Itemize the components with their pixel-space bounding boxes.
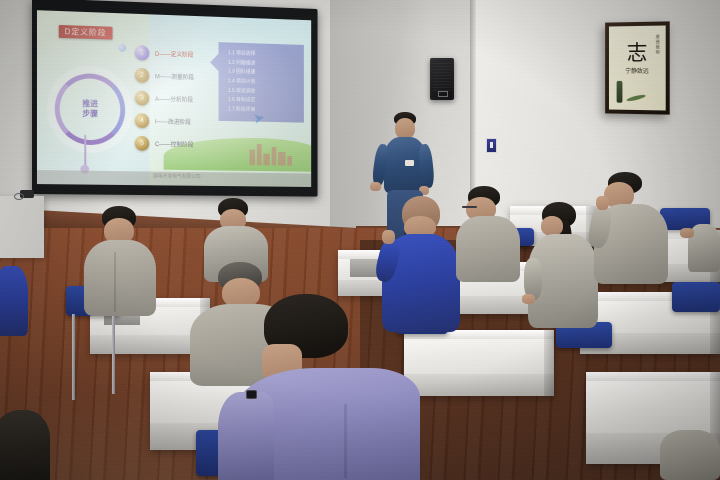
projection-screen: ➤ D定义阶段 推进 步骤 1 D——定义阶段 2 M——测量阶段 bbox=[32, 0, 318, 200]
attendee-back-left bbox=[84, 206, 160, 316]
screen-surface: ➤ D定义阶段 推进 步骤 1 D——定义阶段 2 M——测量阶段 bbox=[37, 10, 311, 187]
classroom-scene: ➤ D定义阶段 推进 步骤 1 D——定义阶段 2 M——测量阶段 bbox=[0, 0, 720, 480]
chair-leg bbox=[72, 314, 75, 400]
attendee-hand bbox=[382, 230, 395, 244]
chair-right-c bbox=[672, 282, 720, 312]
wall-speaker-icon bbox=[430, 58, 454, 100]
glasses-icon bbox=[462, 206, 477, 208]
attendee-hand bbox=[680, 228, 694, 238]
attendee-hand-on-chin bbox=[596, 196, 609, 210]
presenter-head bbox=[395, 118, 415, 139]
attendee-uniform bbox=[456, 216, 520, 282]
attendee-blue-uniform bbox=[0, 266, 28, 336]
attendee-left-partial-blue bbox=[0, 266, 28, 336]
shirt-seam bbox=[344, 404, 347, 478]
presenter-left-hand bbox=[370, 182, 381, 191]
artwork-mat: 志 宁静致远 厚德载物 bbox=[609, 25, 666, 110]
cabinet-cable bbox=[14, 193, 24, 200]
artwork-bamboo bbox=[617, 81, 623, 103]
speaker-grille bbox=[433, 61, 451, 91]
attendee-bottom-left-partial bbox=[0, 410, 50, 480]
artwork-leaf bbox=[626, 94, 646, 102]
attendee-uniform bbox=[84, 240, 156, 316]
screen-haze bbox=[37, 10, 311, 187]
attendee-head bbox=[541, 216, 563, 236]
wristwatch bbox=[246, 390, 257, 399]
uniform-seam bbox=[114, 252, 116, 312]
attendee-uniform bbox=[660, 430, 720, 480]
attendee-glasses bbox=[456, 186, 522, 282]
attendee-arm bbox=[218, 392, 274, 480]
attendee-foreground-lavender bbox=[232, 294, 422, 480]
attendee-dark-shape bbox=[0, 410, 50, 480]
presenter-name-badge bbox=[405, 160, 414, 166]
attendee-bottom-right-partial bbox=[660, 430, 720, 480]
chair-leg bbox=[112, 314, 115, 394]
artwork-character: 志 bbox=[627, 43, 648, 64]
wall-notice-sign bbox=[486, 138, 497, 153]
attendee-hand bbox=[522, 294, 535, 304]
artwork-subtext: 宁静致远 bbox=[625, 66, 648, 75]
attendee-chin-rest bbox=[594, 172, 672, 284]
artwork-side-text: 厚德载物 bbox=[655, 35, 661, 55]
side-cabinet bbox=[0, 196, 44, 258]
speaker-logo bbox=[438, 91, 448, 97]
framed-calligraphy-artwork: 志 宁静致远 厚德载物 bbox=[605, 21, 670, 114]
attendee-far-right-partial bbox=[688, 212, 720, 272]
